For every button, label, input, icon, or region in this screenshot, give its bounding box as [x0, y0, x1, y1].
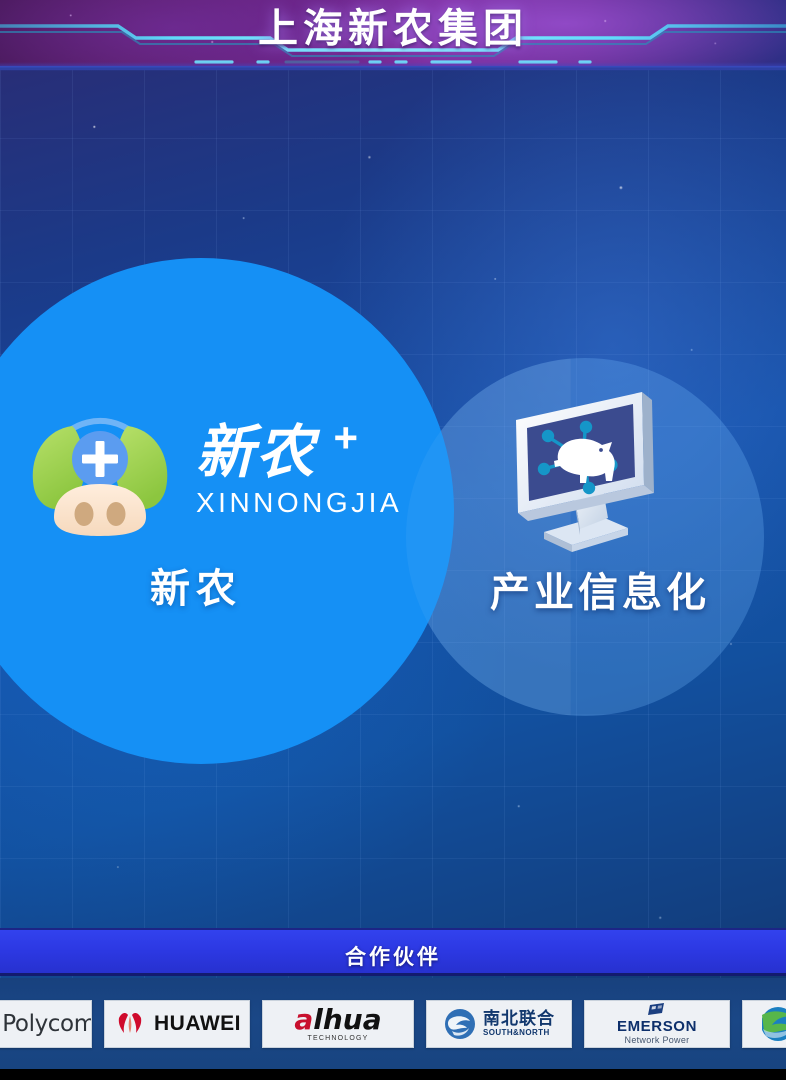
header-bottom-edge: [0, 66, 786, 71]
app-stage: 上海新农集团: [0, 0, 786, 1080]
left-circle-label[interactable]: 新农: [0, 556, 392, 614]
emerson-mark-icon: [646, 1002, 668, 1018]
bottom-black-bar: [0, 1069, 786, 1080]
partner-sublabel-emerson: Network Power: [625, 1035, 690, 1045]
brand-name-en: XINNONGJIA: [196, 487, 402, 519]
partner-logo-huawei[interactable]: HUAWEI: [104, 1000, 250, 1048]
page-title: 上海新农集团: [0, 0, 786, 54]
globe-partner-icon: [762, 1005, 786, 1043]
partner-logo-globe[interactable]: [742, 1000, 786, 1048]
page-header: 上海新农集团: [0, 0, 786, 70]
dahua-a-glyph: a: [294, 1006, 313, 1034]
huawei-flower-icon: [113, 1011, 147, 1037]
brand-wordmark: 新农 + XINNONGJIA: [196, 423, 402, 519]
partners-banner-label: 合作伙伴: [0, 941, 786, 971]
partner-sublabel-south-north: SOUTH&NORTH: [483, 1029, 555, 1038]
right-circle-label[interactable]: 产业信息化: [440, 560, 760, 618]
monitor-with-pig-network-icon: [492, 382, 678, 558]
partner-label-huawei: HUAWEI: [154, 1012, 241, 1036]
partner-sublabel-dahua: TECHNOLOGY: [307, 1035, 368, 1042]
pig-face-with-leaves-icon: [10, 396, 190, 546]
partner-logo-emerson[interactable]: EMERSON Network Power: [584, 1000, 730, 1048]
brand-plus-icon: +: [333, 417, 358, 459]
brand-logo[interactable]: 新农 + XINNONGJIA: [10, 396, 400, 546]
partner-label-polycom: Polycom: [0, 1011, 92, 1037]
partners-strip[interactable]: Polycom HUAWEI alhua TECHNOLOGY: [0, 978, 786, 1070]
partners-banner: 合作伙伴: [0, 928, 786, 976]
partner-logo-dahua[interactable]: alhua TECHNOLOGY: [262, 1000, 414, 1048]
partner-label-emerson: EMERSON: [617, 1018, 697, 1035]
south-north-globe-icon: [443, 1007, 477, 1041]
brand-name-cn: 新农: [196, 423, 316, 481]
partner-logo-south-north[interactable]: 南北联合 SOUTH&NORTH: [426, 1000, 572, 1048]
partner-logo-polycom[interactable]: Polycom: [0, 1000, 92, 1048]
partner-label-south-north: 南北联合: [483, 1010, 555, 1029]
partner-label-dahua: lhua: [313, 1006, 381, 1034]
